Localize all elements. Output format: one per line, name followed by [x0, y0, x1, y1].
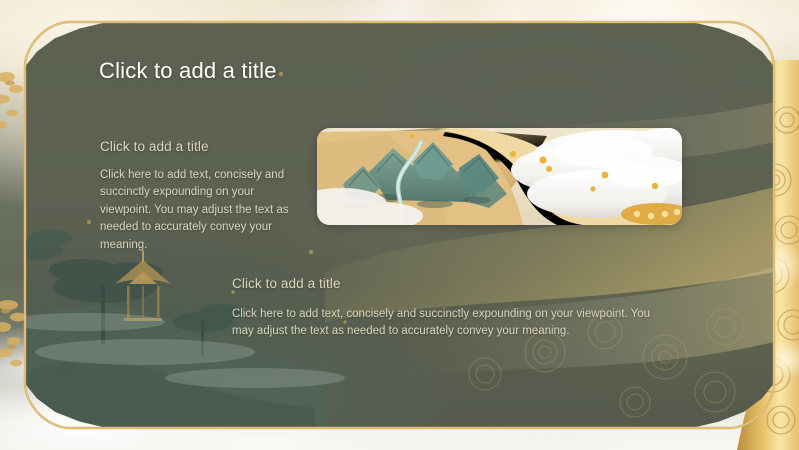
- bottom-block-body[interactable]: Click here to add text, concisely and su…: [232, 306, 652, 341]
- bottom-block-heading[interactable]: Click to add a title: [232, 276, 652, 291]
- left-block-heading[interactable]: Click to add a title: [100, 139, 296, 154]
- image-placeholder[interactable]: [317, 128, 682, 225]
- left-block-body[interactable]: Click here to add text, concisely and su…: [100, 167, 296, 254]
- page-title[interactable]: Click to add a title: [99, 58, 277, 84]
- landscape-illustration: [317, 128, 682, 225]
- slide-canvas: Click to add a title Click to add a titl…: [0, 0, 799, 450]
- left-text-block: Click to add a title Click here to add t…: [100, 139, 296, 254]
- bottom-text-block: Click to add a title Click here to add t…: [232, 276, 652, 341]
